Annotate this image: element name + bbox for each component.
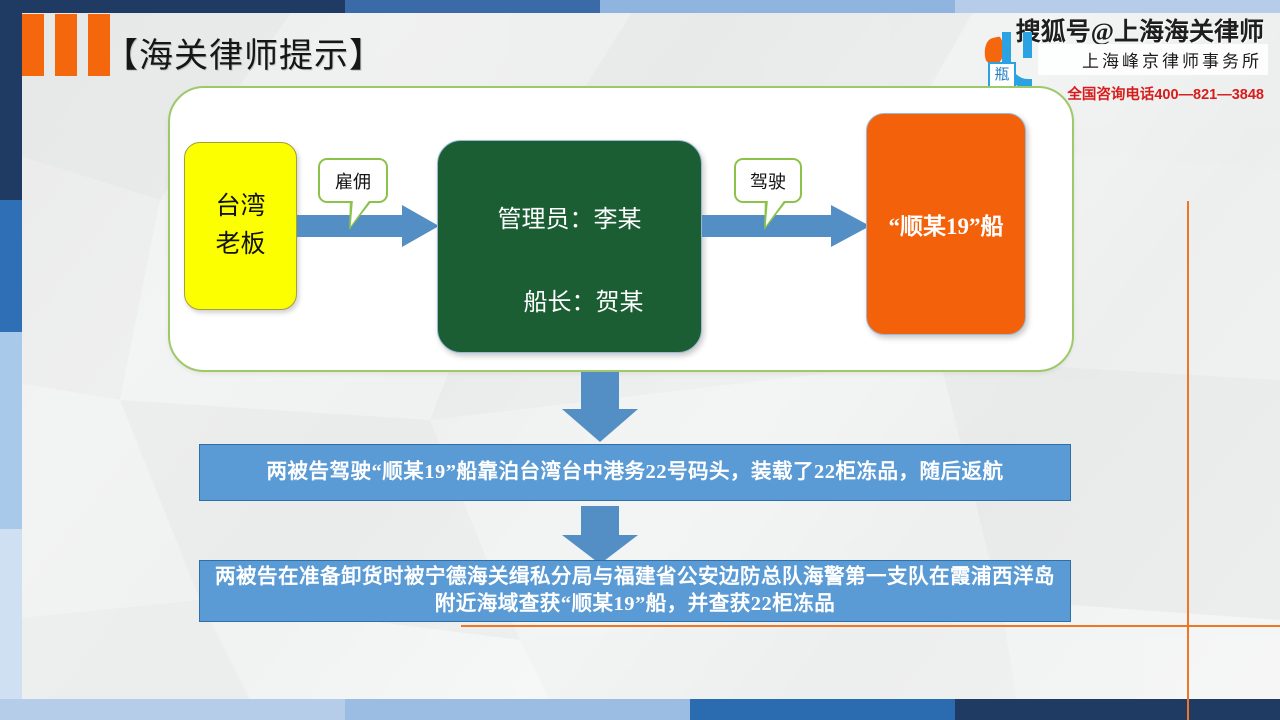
orange-accent-marks bbox=[22, 14, 110, 76]
node-taiwan-boss-line2: 老板 bbox=[215, 226, 265, 264]
vertical-guide-line bbox=[1187, 201, 1189, 720]
topbar-segment-1 bbox=[0, 0, 345, 13]
watermark-firm-name: 上海峰京律师事务所 bbox=[1082, 47, 1262, 72]
node-vessel-label: “顺某19”船 bbox=[889, 207, 1004, 241]
logo-character-badge: 瓶 bbox=[988, 62, 1016, 88]
left-accent-strip bbox=[0, 13, 22, 699]
arrow-banner1-to-banner2-shaft bbox=[581, 506, 619, 536]
orange-mark-2 bbox=[55, 14, 77, 76]
watermark-hotline: 全国咨询电话400—821—3848 bbox=[1067, 83, 1264, 104]
presentation-slide: 【海关律师提示】 搜狐号@上海海关律师 上海峰京律师事务所 全国咨询电话400—… bbox=[0, 0, 1280, 720]
leftstrip-segment-1 bbox=[0, 13, 22, 200]
arrow-diagram-to-banner1-head bbox=[562, 409, 638, 442]
bottombar-segment-1 bbox=[0, 699, 345, 720]
node-taiwan-boss-line1: 台湾 bbox=[215, 188, 265, 226]
node-crew[interactable]: 管理员：李某 船长：贺某 bbox=[437, 140, 702, 353]
node-crew-manager: 管理员：李某 bbox=[498, 199, 642, 234]
banner-statement-2-text: 两被告在准备卸货时被宁德海关缉私分局与福建省公安边防总队海警第一支队在霞浦西洋岛… bbox=[210, 564, 1060, 618]
bottombar-segment-4 bbox=[955, 699, 1280, 720]
node-taiwan-boss-text: 台湾 老板 bbox=[215, 188, 265, 264]
watermark-handle: 搜狐号@上海海关律师 bbox=[1016, 12, 1264, 48]
arrow-crew-to-vessel-head bbox=[831, 205, 870, 247]
arrow-boss-to-crew bbox=[297, 204, 439, 248]
arrow-crew-to-vessel bbox=[702, 204, 870, 248]
banner-statement-2: 两被告在准备卸货时被宁德海关缉私分局与福建省公安边防总队海警第一支队在霞浦西洋岛… bbox=[199, 560, 1071, 622]
callout-drive: 驾驶 bbox=[734, 158, 802, 203]
bottombar-segment-3 bbox=[690, 699, 955, 720]
arrow-banner1-to-banner2 bbox=[562, 506, 638, 564]
bottom-accent-bar bbox=[0, 699, 1280, 720]
firm-logo-icon: 瓶 bbox=[976, 32, 1050, 94]
banner-statement-1-text: 两被告驾驶“顺某19”船靠泊台湾台中港务22号码头，装载了22柜冻品，随后返航 bbox=[267, 459, 1004, 486]
leftstrip-segment-3 bbox=[0, 332, 22, 529]
topbar-segment-2 bbox=[345, 0, 600, 13]
node-vessel[interactable]: “顺某19”船 bbox=[866, 113, 1026, 335]
leftstrip-segment-4 bbox=[0, 529, 22, 699]
page-title: 【海关律师提示】 bbox=[104, 28, 384, 77]
banner-statement-1: 两被告驾驶“顺某19”船靠泊台湾台中港务22号码头，装载了22柜冻品，随后返航 bbox=[199, 444, 1071, 501]
node-crew-captain: 船长：贺某 bbox=[524, 282, 644, 317]
logo-hook-stem bbox=[1023, 32, 1032, 58]
topbar-segment-3 bbox=[600, 0, 955, 13]
orange-mark-1 bbox=[22, 14, 44, 76]
node-taiwan-boss[interactable]: 台湾 老板 bbox=[184, 142, 297, 310]
callout-hire-label: 雇佣 bbox=[335, 168, 371, 194]
leftstrip-segment-2 bbox=[0, 200, 22, 332]
arrow-diagram-to-banner1 bbox=[562, 372, 638, 442]
bottombar-segment-2 bbox=[345, 699, 690, 720]
callout-drive-label: 驾驶 bbox=[750, 168, 786, 194]
callout-hire: 雇佣 bbox=[318, 158, 388, 203]
horizontal-guide-line bbox=[461, 625, 1280, 627]
arrow-boss-to-crew-head bbox=[402, 205, 439, 247]
arrow-diagram-to-banner1-shaft bbox=[581, 372, 619, 410]
